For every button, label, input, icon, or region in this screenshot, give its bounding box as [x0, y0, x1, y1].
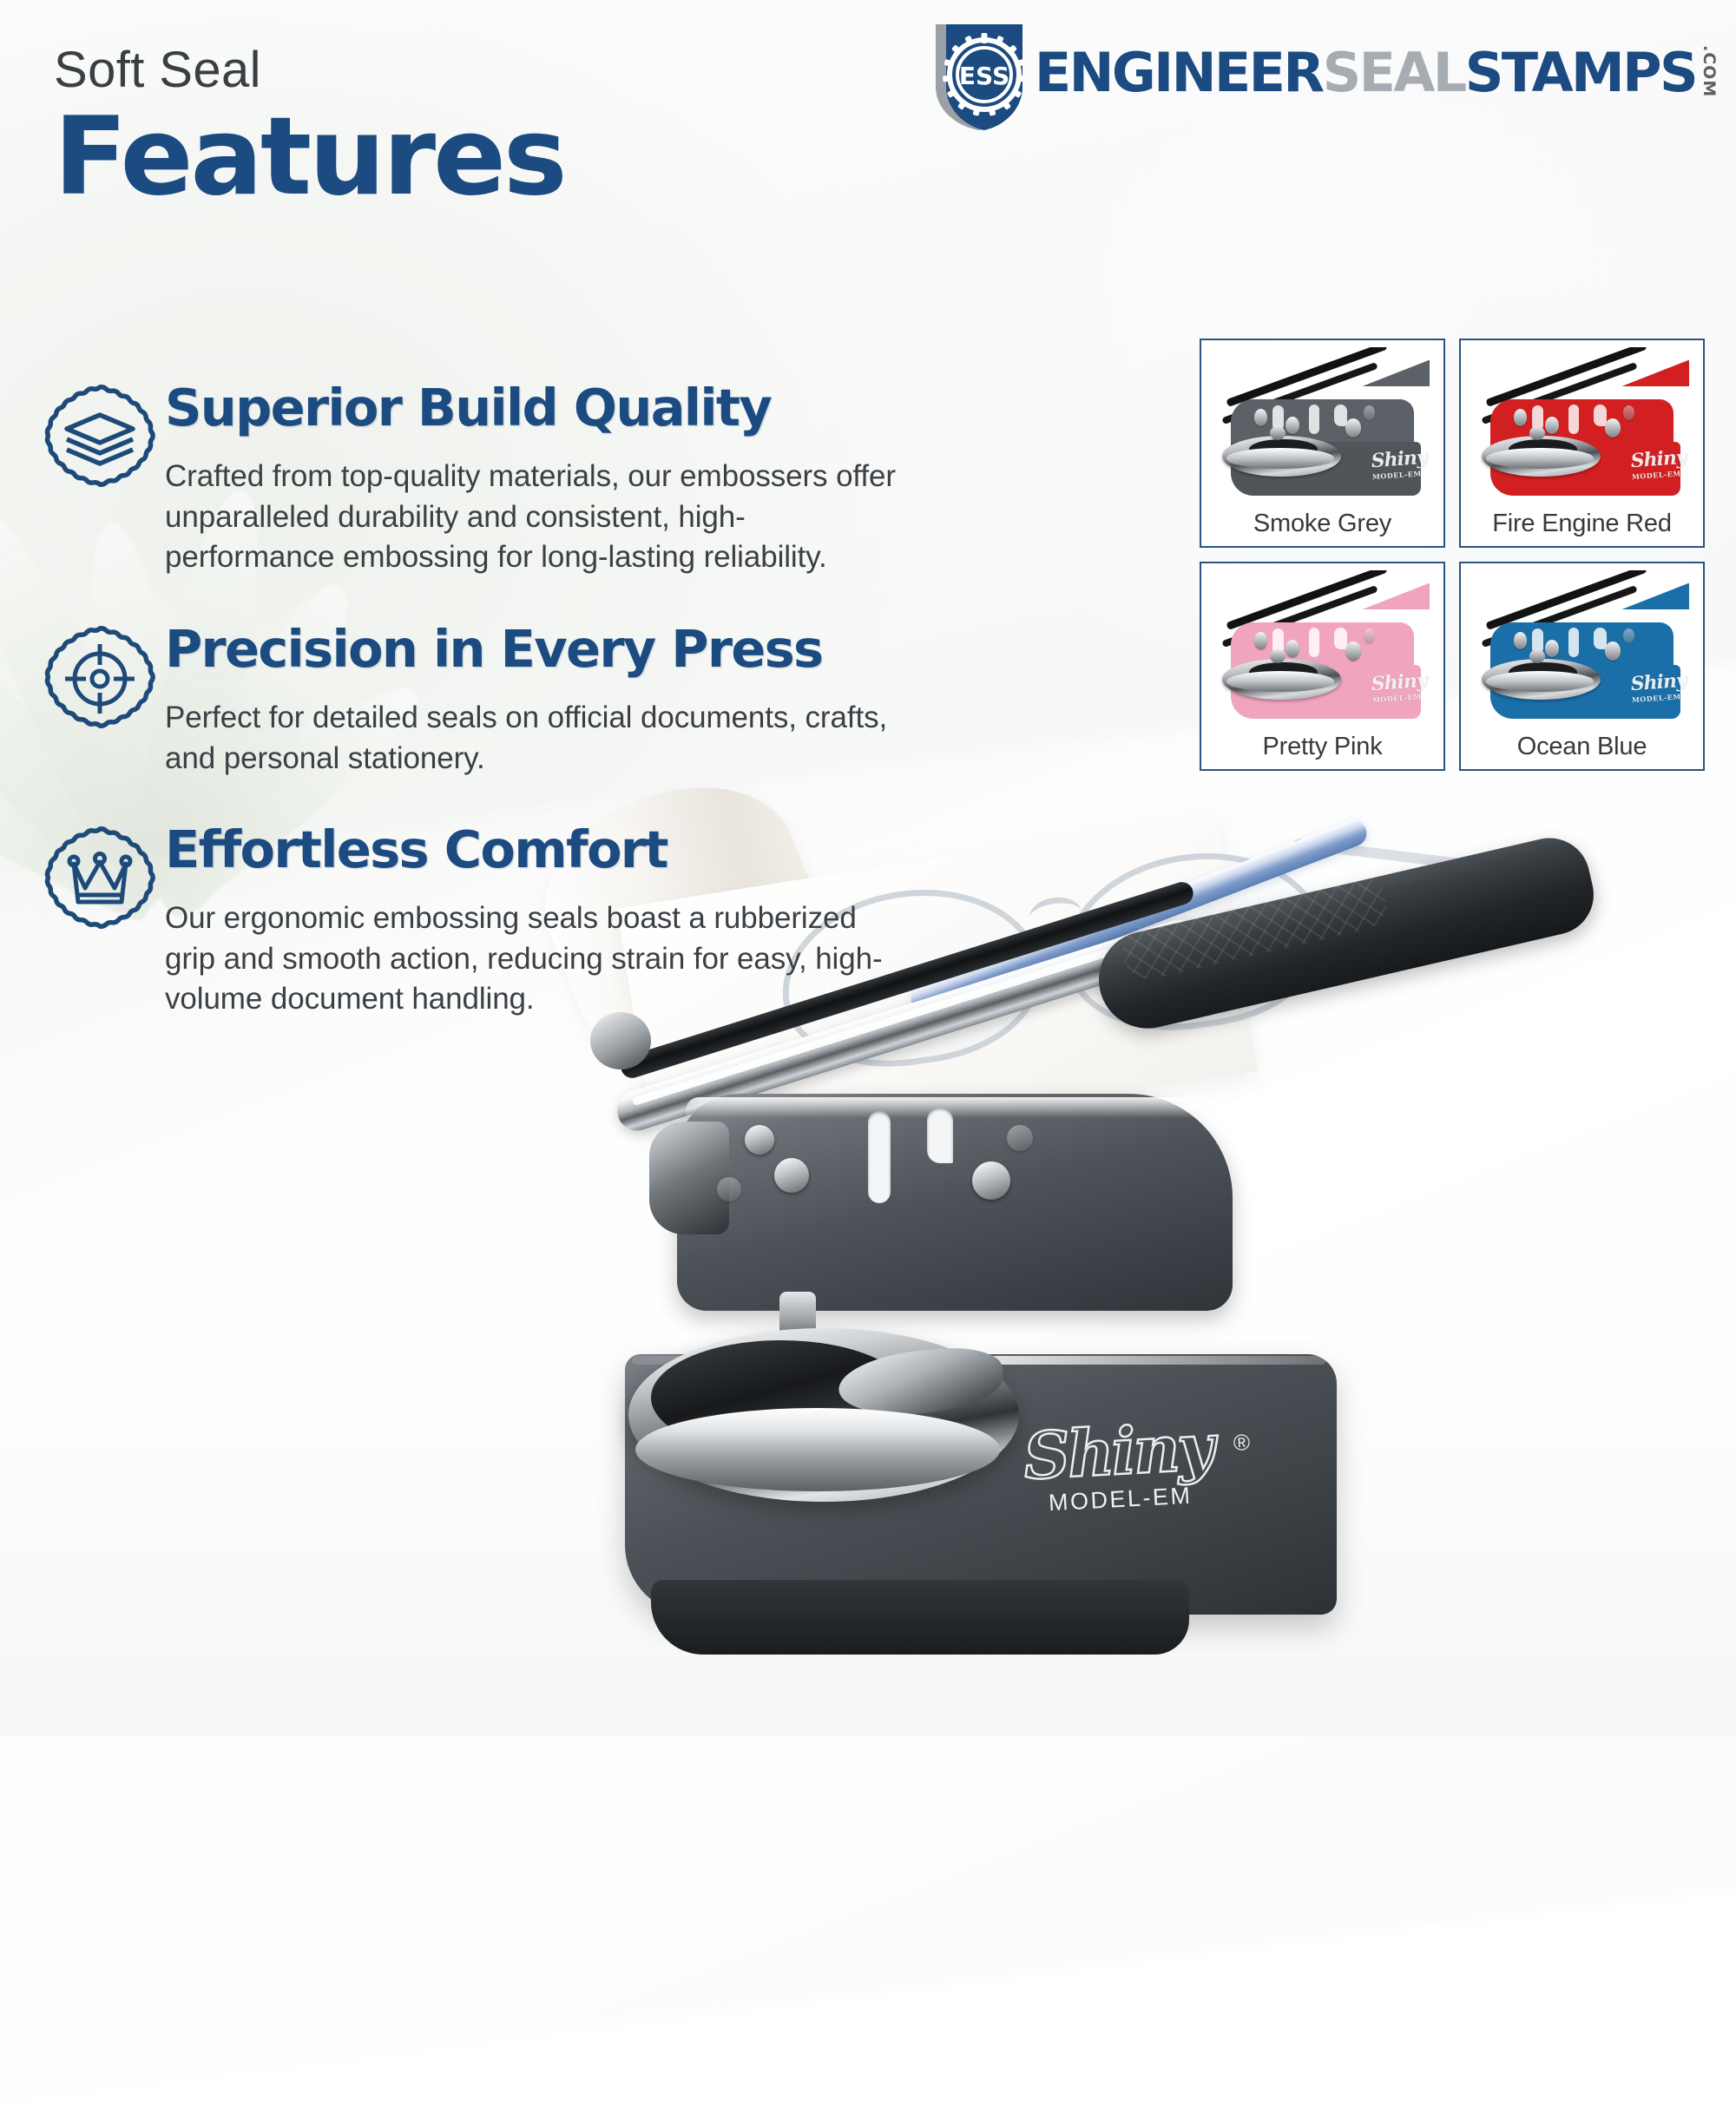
header-kicker: Soft Seal	[54, 45, 564, 95]
swatch-product-photo: ShinyMODEL-EM	[1468, 570, 1696, 728]
feature-title: Precision in Every Press	[165, 623, 911, 675]
logo-word-engineer: ENGINEER	[1035, 46, 1323, 100]
color-options-grid: ShinyMODEL-EM Smoke Grey ShinyMODEL-EM F…	[1200, 339, 1705, 771]
jaw-rivet	[774, 1158, 809, 1193]
color-swatch-card[interactable]: ShinyMODEL-EM Fire Engine Red	[1459, 339, 1705, 548]
swatch-product-photo: ShinyMODEL-EM	[1468, 347, 1696, 505]
color-swatch-card[interactable]: ShinyMODEL-EM Pretty Pink	[1200, 562, 1445, 771]
logo-word-domain: .COM	[1700, 45, 1717, 97]
feature-description: Perfect for detailed seals on official d…	[165, 698, 911, 779]
feature-list: Superior Build Quality Crafted from top-…	[35, 373, 911, 1056]
die-wheel-chrome-lip	[635, 1408, 1000, 1491]
feature-body: Superior Build Quality Crafted from top-…	[165, 373, 911, 578]
feature-title: Superior Build Quality	[165, 382, 911, 434]
logo-wordmark: ENGINEERSEALSTAMPS .COM	[1035, 46, 1717, 100]
ess-mark-text: ESS	[959, 62, 1009, 90]
embosser-base-foot	[651, 1580, 1189, 1655]
jaw-rivet	[745, 1125, 774, 1155]
feature-item-build-quality: Superior Build Quality Crafted from top-…	[35, 373, 911, 578]
feature-description: Crafted from top-quality materials, our …	[165, 457, 911, 578]
swatch-label: Fire Engine Red	[1492, 505, 1672, 541]
page-header: Soft Seal Features	[54, 45, 564, 207]
swatch-label: Ocean Blue	[1517, 728, 1647, 764]
feature-body: Precision in Every Press Perfect for det…	[165, 615, 911, 779]
brand-logo[interactable]: ESS ENGINEERSEALSTAMPS .COM	[920, 14, 1717, 132]
logo-word-stamps: STAMPS	[1465, 46, 1696, 100]
crown-icon	[35, 815, 165, 944]
swatch-label: Pretty Pink	[1262, 728, 1382, 764]
feature-title: Effortless Comfort	[165, 824, 911, 876]
jaw-slot	[927, 1108, 953, 1163]
feature-item-precision: Precision in Every Press Perfect for det…	[35, 615, 911, 779]
jaw-rivet	[1007, 1125, 1033, 1151]
color-swatch-card[interactable]: ShinyMODEL-EM Smoke Grey	[1200, 339, 1445, 548]
feature-item-comfort: Effortless Comfort Our ergonomic embossi…	[35, 815, 911, 1020]
feature-body: Effortless Comfort Our ergonomic embossi…	[165, 815, 911, 1020]
embosser-hinge	[649, 1122, 729, 1234]
feature-description: Our ergonomic embossing seals boast a ru…	[165, 898, 911, 1020]
jaw-slot	[868, 1111, 891, 1203]
embosser-jaw-rim-highlight	[686, 1097, 1224, 1118]
jaw-rivet	[972, 1161, 1010, 1200]
mini-embosser-illustration: ShinyMODEL-EM	[1468, 570, 1696, 728]
mini-embosser-illustration: ShinyMODEL-EM	[1208, 570, 1437, 728]
logo-word-seal: SEAL	[1323, 46, 1465, 100]
layers-icon	[35, 373, 165, 502]
mini-embosser-illustration: ShinyMODEL-EM	[1468, 347, 1696, 505]
page-title: Features	[54, 108, 564, 207]
swatch-product-photo: ShinyMODEL-EM	[1208, 347, 1437, 505]
mini-embosser-illustration: ShinyMODEL-EM	[1208, 347, 1437, 505]
swatch-label: Smoke Grey	[1253, 505, 1391, 541]
ess-badge-icon: ESS	[920, 14, 1031, 132]
swatch-product-photo: ShinyMODEL-EM	[1208, 570, 1437, 728]
color-swatch-card[interactable]: ShinyMODEL-EM Ocean Blue	[1459, 562, 1705, 771]
jaw-rivet	[717, 1177, 741, 1201]
crosshair-icon	[35, 615, 165, 743]
